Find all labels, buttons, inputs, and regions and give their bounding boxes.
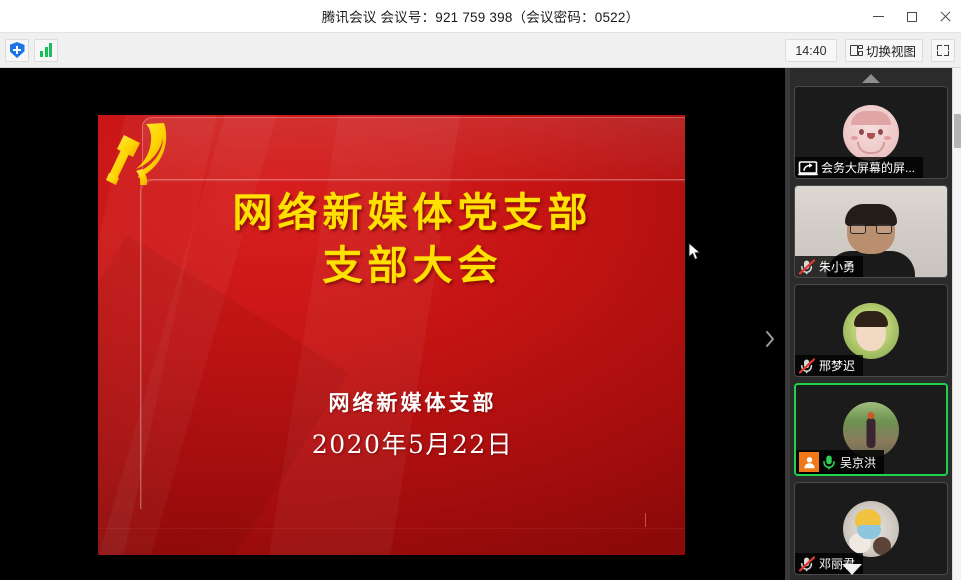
mic-on-icon bbox=[821, 454, 837, 470]
participant-tile[interactable]: 邓丽君 bbox=[794, 482, 948, 575]
maximize-button[interactable] bbox=[895, 0, 928, 33]
scroll-down-button[interactable] bbox=[842, 564, 862, 575]
hammer-and-sickle-emblem bbox=[102, 117, 182, 193]
slide-top-band bbox=[142, 117, 685, 183]
participant-tiles: 会务大屏幕的屏... bbox=[790, 86, 952, 580]
avatar bbox=[843, 501, 899, 557]
panel-scrollbar[interactable] bbox=[952, 68, 961, 580]
signal-bars-icon bbox=[40, 43, 52, 57]
participant-list: 会务大屏幕的屏... bbox=[790, 68, 952, 580]
slide-title-line-1: 网络新媒体党支部 bbox=[140, 187, 685, 240]
participant-label: 会务大屏幕的屏... bbox=[795, 157, 923, 178]
screen-share-icon bbox=[798, 160, 818, 176]
scrollbar-thumb[interactable] bbox=[954, 114, 961, 148]
presentation-slide: 网络新媒体党支部 支部大会 网络新媒体支部 2020年5月22日 bbox=[98, 115, 685, 555]
title-bar: 腾讯会议 会议号：921 759 398（会议密码：0522） bbox=[0, 0, 961, 33]
layout-switch-icon bbox=[850, 45, 863, 57]
participant-tile-active-speaker[interactable]: 吴京洪 bbox=[794, 383, 948, 476]
participant-name: 会务大屏幕的屏... bbox=[821, 159, 915, 176]
switch-view-button[interactable]: 切换视图 bbox=[845, 39, 923, 62]
close-button[interactable] bbox=[928, 0, 961, 33]
participant-tile[interactable]: 朱小勇 bbox=[794, 185, 948, 278]
maximize-icon bbox=[907, 12, 917, 22]
mic-muted-icon bbox=[798, 259, 816, 275]
slide-tick-mark bbox=[645, 513, 646, 527]
fullscreen-button[interactable] bbox=[931, 39, 955, 62]
window-title: 腾讯会议 会议号：921 759 398（会议密码：0522） bbox=[0, 6, 961, 26]
participant-tile[interactable]: 会务大屏幕的屏... bbox=[794, 86, 948, 179]
participant-label: 邢梦迟 bbox=[795, 355, 863, 376]
avatar bbox=[843, 303, 899, 359]
close-icon bbox=[939, 11, 951, 23]
shield-plus-icon bbox=[10, 42, 25, 58]
shared-screen-stage[interactable]: 网络新媒体党支部 支部大会 网络新媒体支部 2020年5月22日 bbox=[0, 68, 785, 580]
network-status-button[interactable] bbox=[34, 39, 58, 62]
participant-name: 邢梦迟 bbox=[819, 357, 855, 374]
minimize-button[interactable] bbox=[862, 0, 895, 33]
participant-tile[interactable]: 邢梦迟 bbox=[794, 284, 948, 377]
participant-label: 朱小勇 bbox=[795, 256, 863, 277]
fullscreen-icon bbox=[937, 45, 942, 50]
tencent-meeting-window: 腾讯会议 会议号：921 759 398（会议密码：0522） 14:40 bbox=[0, 0, 961, 580]
slide-title: 网络新媒体党支部 支部大会 bbox=[140, 187, 685, 293]
toolbar-left-group bbox=[0, 39, 58, 62]
scroll-up-button[interactable] bbox=[862, 74, 880, 83]
meeting-clock: 14:40 bbox=[785, 39, 837, 62]
slide-date: 2020年5月22日 bbox=[140, 425, 685, 461]
slide-title-line-2: 支部大会 bbox=[140, 240, 685, 293]
meeting-toolbar: 14:40 切换视图 bbox=[0, 33, 961, 68]
slide-subtitle-block: 网络新媒体支部 2020年5月22日 bbox=[140, 387, 685, 461]
mouse-pointer-icon bbox=[688, 242, 702, 262]
avatar bbox=[843, 105, 899, 161]
switch-view-label: 切换视图 bbox=[866, 41, 916, 60]
participant-label: 吴京洪 bbox=[796, 450, 884, 474]
participant-panel: 会务大屏幕的屏... bbox=[785, 68, 961, 580]
security-button[interactable] bbox=[5, 39, 29, 62]
host-person-icon bbox=[803, 456, 816, 469]
mic-muted-icon bbox=[798, 556, 816, 572]
window-controls bbox=[862, 0, 961, 33]
mic-muted-icon bbox=[798, 358, 816, 374]
toolbar-right-group: 14:40 切换视图 bbox=[785, 33, 955, 68]
participant-name: 吴京洪 bbox=[840, 454, 876, 471]
slide-organization: 网络新媒体支部 bbox=[140, 387, 685, 417]
host-badge bbox=[799, 452, 819, 472]
chevron-right-icon[interactable] bbox=[763, 328, 777, 350]
minimize-icon bbox=[873, 16, 884, 17]
participant-name: 朱小勇 bbox=[819, 258, 855, 275]
slide-foot-rule bbox=[98, 528, 685, 529]
